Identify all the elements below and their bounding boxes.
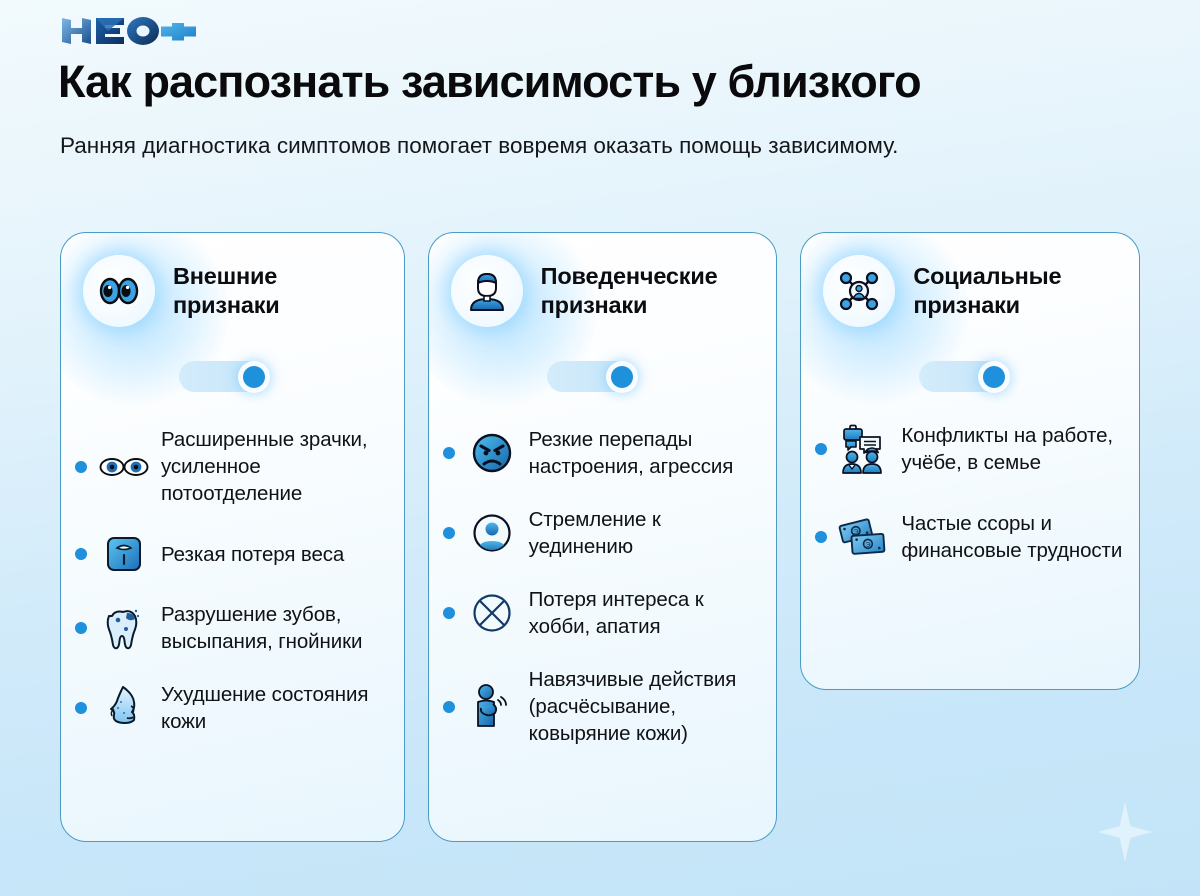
card-toggle-row [61,327,404,392]
toggle-knob [611,366,633,388]
signs-list: Конфликты на работе, учёбе, в семье Э [801,392,1139,564]
scratching-person-icon [465,683,519,731]
card-header: Внешние признаки [61,233,404,327]
card-external-signs: Внешние признаки [60,232,405,842]
cards-container: Внешние признаки [60,232,1140,842]
user-circle-icon [465,511,519,555]
bullet-dot [443,607,455,619]
list-item: Конфликты на работе, учёбе, в семье [815,422,1123,476]
list-item: Потеря интереса к хобби, апатия [443,586,761,640]
signs-list: Резкие перепады настроения, агрессия [429,392,777,747]
crossed-circle-icon [465,591,519,635]
bullet-dot [443,527,455,539]
bullet-dot [443,447,455,459]
svg-text:Э: Э [866,542,872,549]
list-item: Разрушение зубов, высыпания, гнойники [75,601,388,655]
list-item-text: Стремление к уединению [529,506,761,560]
bullet-dot [75,548,87,560]
list-item: Расширенные зрачки, усиленное потоотделе… [75,426,388,507]
eyes-icon [83,255,155,327]
bullet-dot [75,461,87,473]
bullet-dot [815,443,827,455]
list-item-text: Резкие перепады настроения, агрессия [529,426,761,480]
social-network-icon [823,255,895,327]
signs-list: Расширенные зрачки, усиленное потоотделе… [61,392,404,735]
list-item-text: Потеря интереса к хобби, апатия [529,586,761,640]
list-item: Ухудшение состояния кожи [75,681,388,735]
list-item-text: Конфликты на работе, учёбе, в семье [901,422,1123,476]
dilated-pupils-icon [97,454,151,480]
people-conflict-icon [837,424,891,474]
list-item-text: Ухудшение состояния кожи [161,681,388,735]
list-item: Навязчивые действия (расчёсывание, ковыр… [443,666,761,747]
list-item: Э Э Частые ссоры и финансовые [815,510,1123,564]
card-title: Социальные признаки [913,262,1121,320]
bullet-dot [443,701,455,713]
page-subtitle: Ранняя диагностика симптомов помогает во… [60,128,898,164]
angry-face-icon [465,431,519,475]
toggle-switch[interactable] [179,361,269,392]
list-item-text: Частые ссоры и финансовые трудности [901,510,1123,564]
card-header: Поведенческие признаки [429,233,777,327]
card-title: Поведенческие признаки [541,262,759,320]
list-item: Резкие перепады настроения, агрессия [443,426,761,480]
card-toggle-row [801,327,1139,392]
card-social-signs: Социальные признаки [800,232,1140,690]
tooth-decay-icon [97,605,151,651]
card-title: Внешние признаки [173,262,386,320]
weight-scale-icon [97,533,151,575]
card-toggle-row [429,327,777,392]
toggle-knob [983,366,1005,388]
card-header: Социальные признаки [801,233,1139,327]
bullet-dot [75,622,87,634]
list-item-text: Навязчивые действия (расчёсывание, ковыр… [529,666,761,747]
list-item: Резкая потеря веса [75,533,388,575]
card-behavioral-signs: Поведенческие признаки [428,232,778,842]
page-title: Как распознать зависимость у близкого [58,56,921,108]
list-item: Стремление к уединению [443,506,761,560]
toggle-switch[interactable] [919,361,1009,392]
list-item-text: Разрушение зубов, высыпания, гнойники [161,601,388,655]
bullet-dot [75,702,87,714]
list-item-text: Расширенные зрачки, усиленное потоотделе… [161,426,388,507]
face-profile-icon [97,684,151,732]
toggle-switch[interactable] [547,361,637,392]
brand-logo [60,14,210,46]
person-icon [451,255,523,327]
bullet-dot [815,531,827,543]
toggle-knob [243,366,265,388]
list-item-text: Резкая потеря веса [161,541,344,568]
money-bills-icon: Э Э [837,515,891,559]
